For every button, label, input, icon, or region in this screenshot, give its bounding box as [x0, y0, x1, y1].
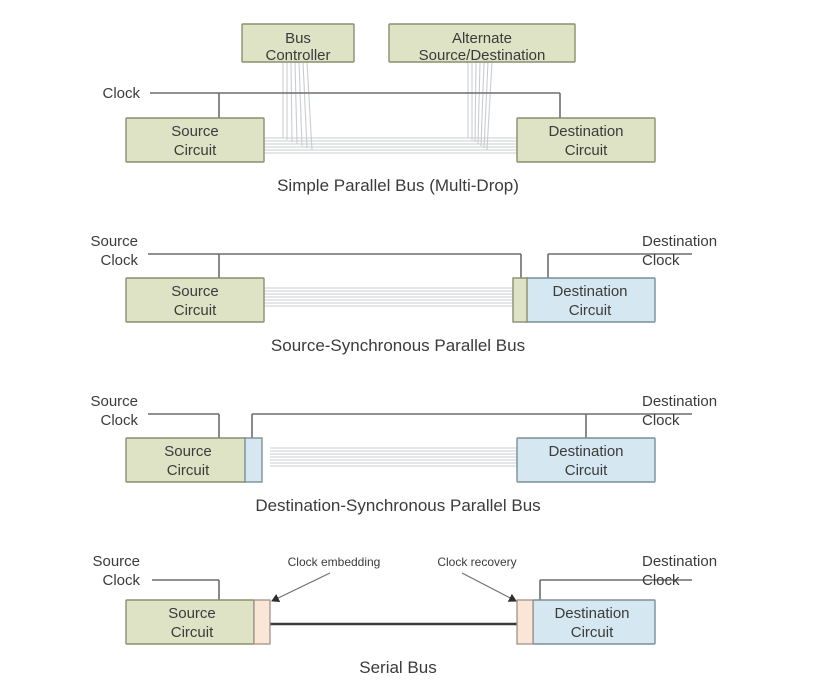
- bus-controller-line2: Controller: [265, 47, 330, 64]
- source-clock-strip-d3: [245, 438, 262, 482]
- destination-clock-strip-d2: [513, 278, 527, 322]
- source-clock-net-d3: [148, 414, 219, 438]
- block-destination-circuit-d1[interactable]: Destination Circuit: [517, 118, 655, 162]
- clock-net-d1: [150, 93, 560, 118]
- destination-circuit-line1-d3: Destination: [548, 443, 623, 460]
- destination-clock-label-line1-d4: Destination: [642, 553, 717, 570]
- diagram-simple-parallel-bus: Clock Bus Controller Alternate Source/De…: [102, 24, 655, 195]
- destination-clock-net-d3: [252, 414, 692, 438]
- source-clock-label-line1-d3: Source: [90, 393, 138, 410]
- destination-clock-label-line1-d2: Destination: [642, 233, 717, 250]
- destination-circuit-line1-d1: Destination: [548, 123, 623, 140]
- destination-circuit-line2-d3: Circuit: [565, 462, 608, 479]
- source-circuit-line2-d3: Circuit: [167, 462, 210, 479]
- bus-bundle-d2: [264, 288, 516, 306]
- bus-controller-line1: Bus: [285, 30, 311, 47]
- annotation-clock-recovery: Clock recovery: [437, 555, 516, 569]
- destination-circuit-line2-d1: Circuit: [565, 142, 608, 159]
- source-clock-label-line1-d4: Source: [92, 553, 140, 570]
- destination-circuit-line2-d2: Circuit: [569, 302, 612, 319]
- source-clock-label-line2-d3: Clock: [100, 412, 138, 429]
- bus-topologies-figure: Clock Bus Controller Alternate Source/De…: [0, 0, 820, 686]
- block-source-circuit-d3[interactable]: Source Circuit: [126, 438, 262, 482]
- bus-bundle-alternate: [468, 62, 492, 150]
- caption-d3: Destination-Synchronous Parallel Bus: [255, 496, 540, 515]
- diagram-serial-bus: Source Clock Destination Clock Source Ci…: [92, 553, 717, 677]
- alternate-line1: Alternate: [452, 30, 512, 47]
- source-circuit-line1-d4: Source: [168, 605, 216, 622]
- deserializer-strip: [517, 600, 533, 644]
- diagram-source-synchronous-parallel-bus: Source Clock Destination Clock Source Ci…: [90, 233, 717, 355]
- source-circuit-line2-d1: Circuit: [174, 142, 217, 159]
- source-circuit-line1-d1: Source: [171, 123, 219, 140]
- destination-clock-label-line2-d4: Clock: [642, 572, 680, 589]
- block-source-circuit-d2[interactable]: Source Circuit: [126, 278, 264, 322]
- source-clock-net-d2: [148, 254, 521, 278]
- source-circuit-line2-d2: Circuit: [174, 302, 217, 319]
- caption-d1: Simple Parallel Bus (Multi-Drop): [277, 176, 519, 195]
- block-destination-circuit-d2[interactable]: Destination Circuit: [513, 278, 655, 322]
- clock-embedding-leader: [272, 573, 330, 601]
- source-circuit-line1-d2: Source: [171, 283, 219, 300]
- clock-label-d1: Clock: [102, 85, 140, 102]
- serializer-strip: [254, 600, 270, 644]
- source-clock-label-line2-d4: Clock: [102, 572, 140, 589]
- clock-recovery-leader: [462, 573, 516, 601]
- caption-d4: Serial Bus: [359, 658, 436, 677]
- destination-clock-label-line2-d2: Clock: [642, 252, 680, 269]
- block-destination-circuit-d3[interactable]: Destination Circuit: [517, 438, 655, 482]
- block-destination-circuit-d4[interactable]: Destination Circuit: [517, 600, 655, 644]
- block-alternate-source-destination[interactable]: Alternate Source/Destination: [389, 24, 575, 64]
- bus-bundle-controller: [283, 62, 312, 150]
- source-circuit-line1-d3: Source: [164, 443, 212, 460]
- annotation-clock-embedding: Clock embedding: [288, 555, 381, 569]
- source-clock-label-line1-d2: Source: [90, 233, 138, 250]
- source-circuit-line2-d4: Circuit: [171, 624, 214, 641]
- block-source-circuit-d4[interactable]: Source Circuit: [126, 600, 270, 644]
- destination-clock-label-line2-d3: Clock: [642, 412, 680, 429]
- caption-d2: Source-Synchronous Parallel Bus: [271, 336, 525, 355]
- destination-circuit-line1-d2: Destination: [552, 283, 627, 300]
- destination-circuit-line2-d4: Circuit: [571, 624, 614, 641]
- block-source-circuit-d1[interactable]: Source Circuit: [126, 118, 264, 162]
- destination-circuit-line1-d4: Destination: [554, 605, 629, 622]
- alternate-line2: Source/Destination: [419, 47, 546, 64]
- bus-bundle-d3: [270, 448, 518, 466]
- diagram-destination-synchronous-parallel-bus: Source Clock Destination Clock Source Ci…: [90, 393, 717, 515]
- block-bus-controller[interactable]: Bus Controller: [242, 24, 354, 64]
- destination-clock-label-line1-d3: Destination: [642, 393, 717, 410]
- source-clock-net-d4: [152, 580, 219, 600]
- source-clock-label-line2-d2: Clock: [100, 252, 138, 269]
- figure-canvas: Clock Bus Controller Alternate Source/De…: [0, 0, 820, 686]
